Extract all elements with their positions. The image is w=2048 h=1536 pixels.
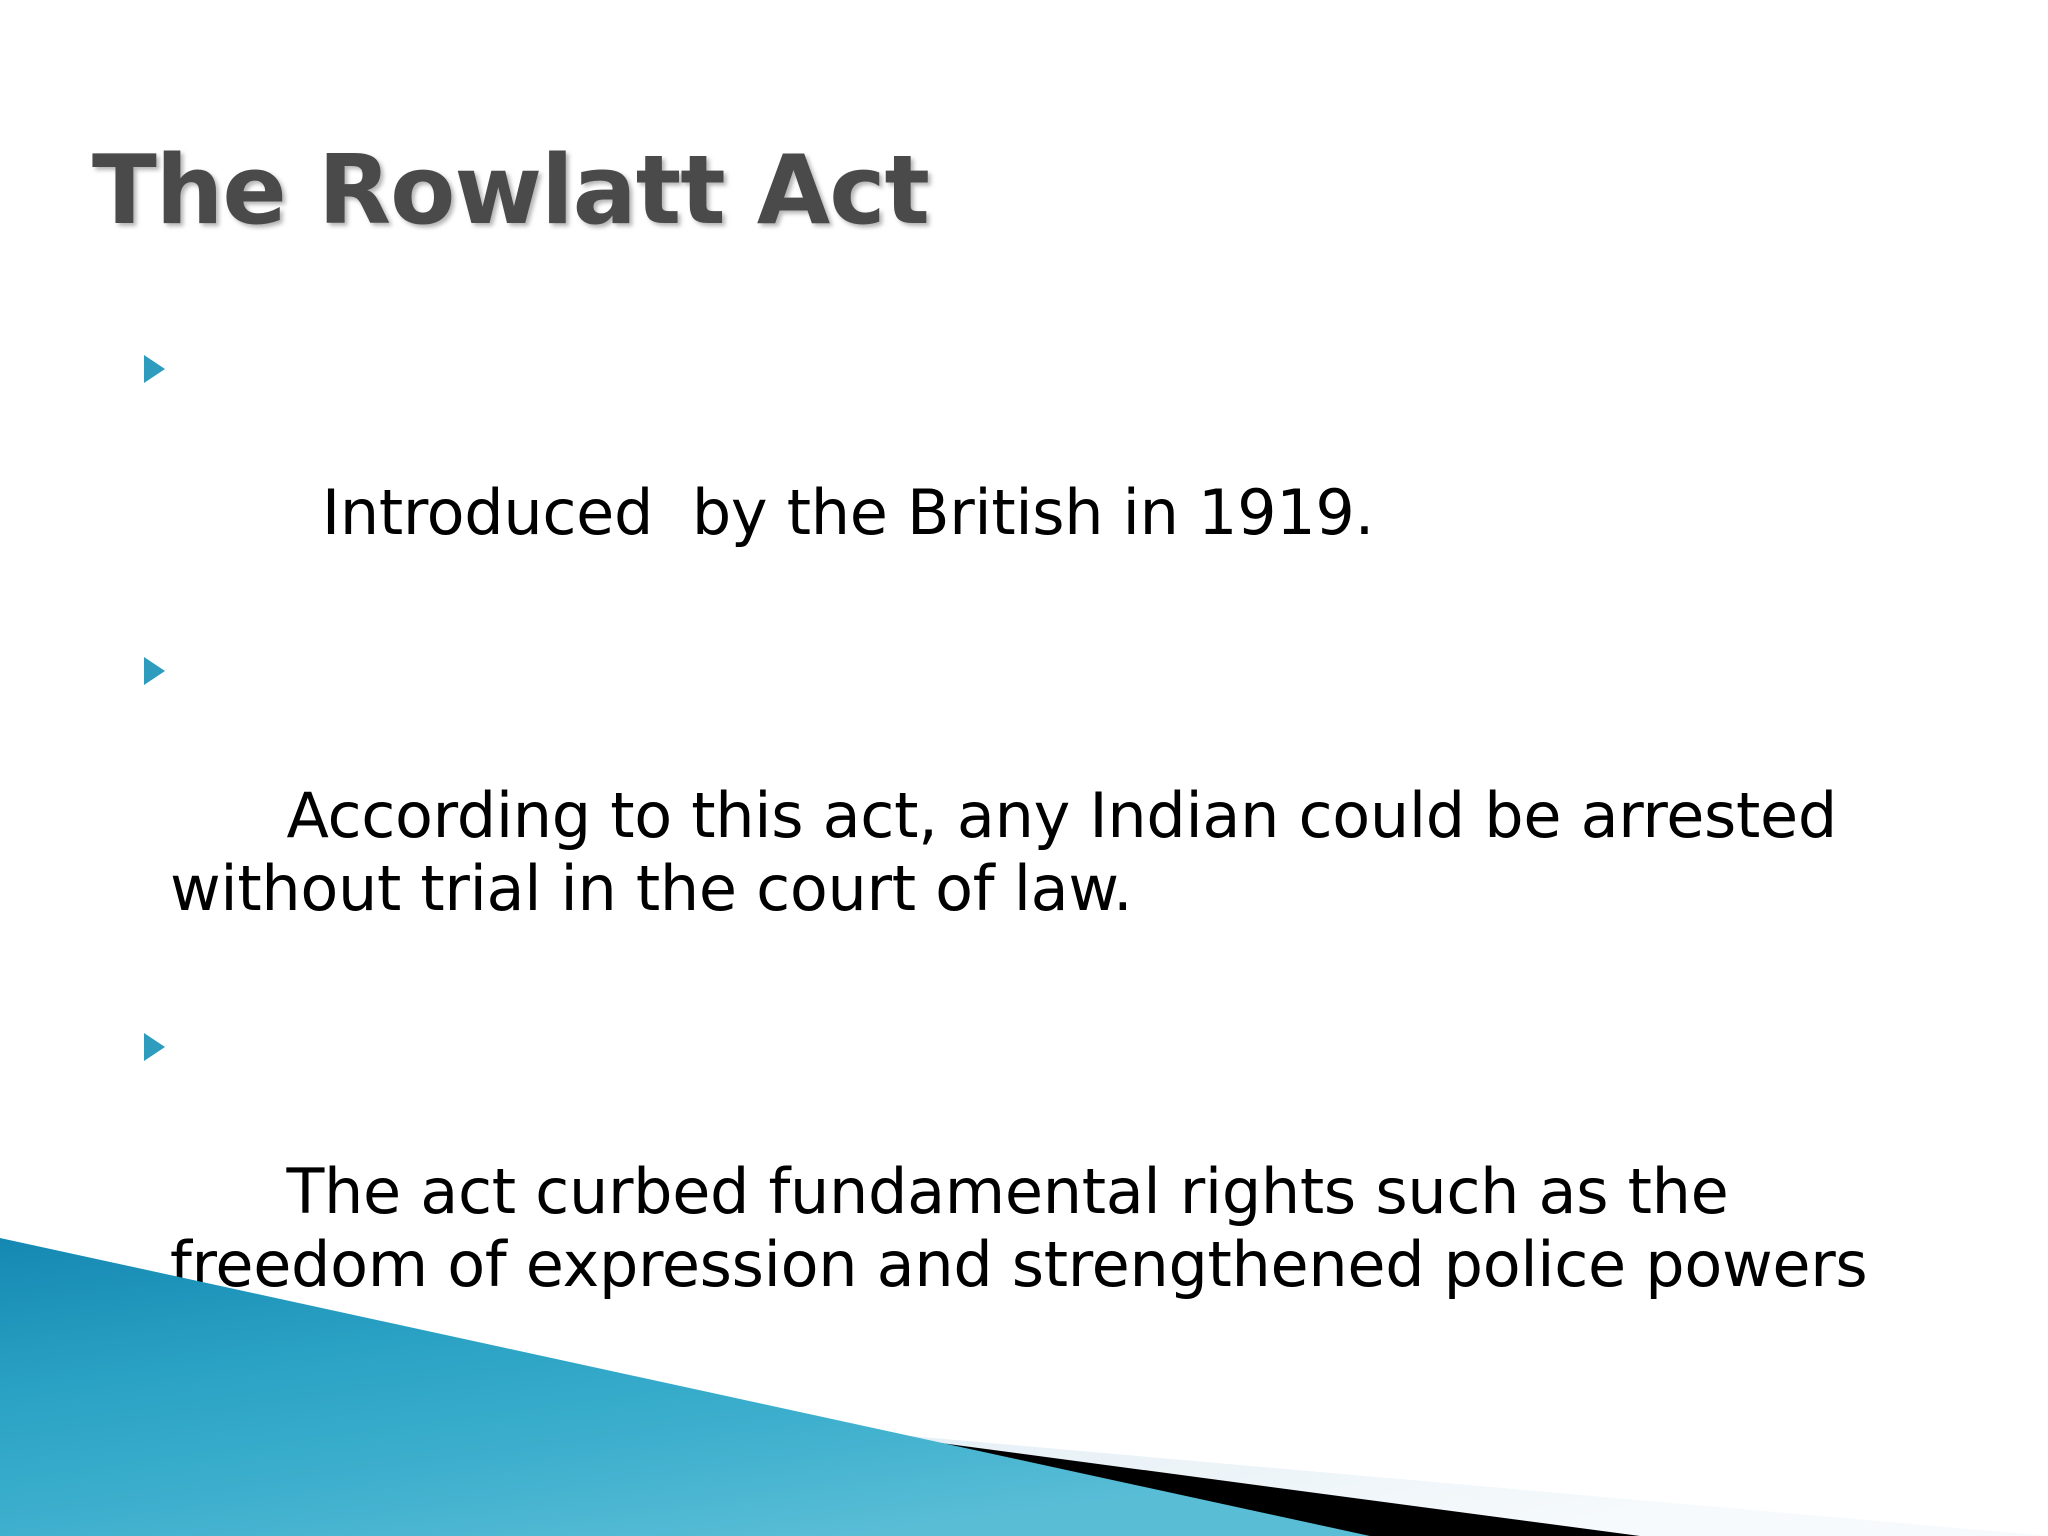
list-item: According to this act, any Indian could … <box>108 633 1908 999</box>
list-item-label: Introduced by the British in 1919. <box>302 476 1374 549</box>
list-item-label: The act curbed fundamental rights such a… <box>170 1155 1867 1301</box>
triangle-right-icon <box>144 657 165 685</box>
list-item: The act curbed fundamental rights such a… <box>108 1008 1908 1374</box>
list-item: Introduced by the British in 1919. <box>108 330 1908 623</box>
slide-canvas: The Rowlatt Act Introduced by the Britis… <box>0 0 2048 1536</box>
page-title: The Rowlatt Act <box>92 138 1792 244</box>
triangle-right-icon <box>144 1033 165 1061</box>
triangle-right-icon <box>144 355 165 383</box>
bullet-list: Introduced by the British in 1919. Accor… <box>108 330 1908 1384</box>
list-item-label: According to this act, any Indian could … <box>170 779 1856 925</box>
